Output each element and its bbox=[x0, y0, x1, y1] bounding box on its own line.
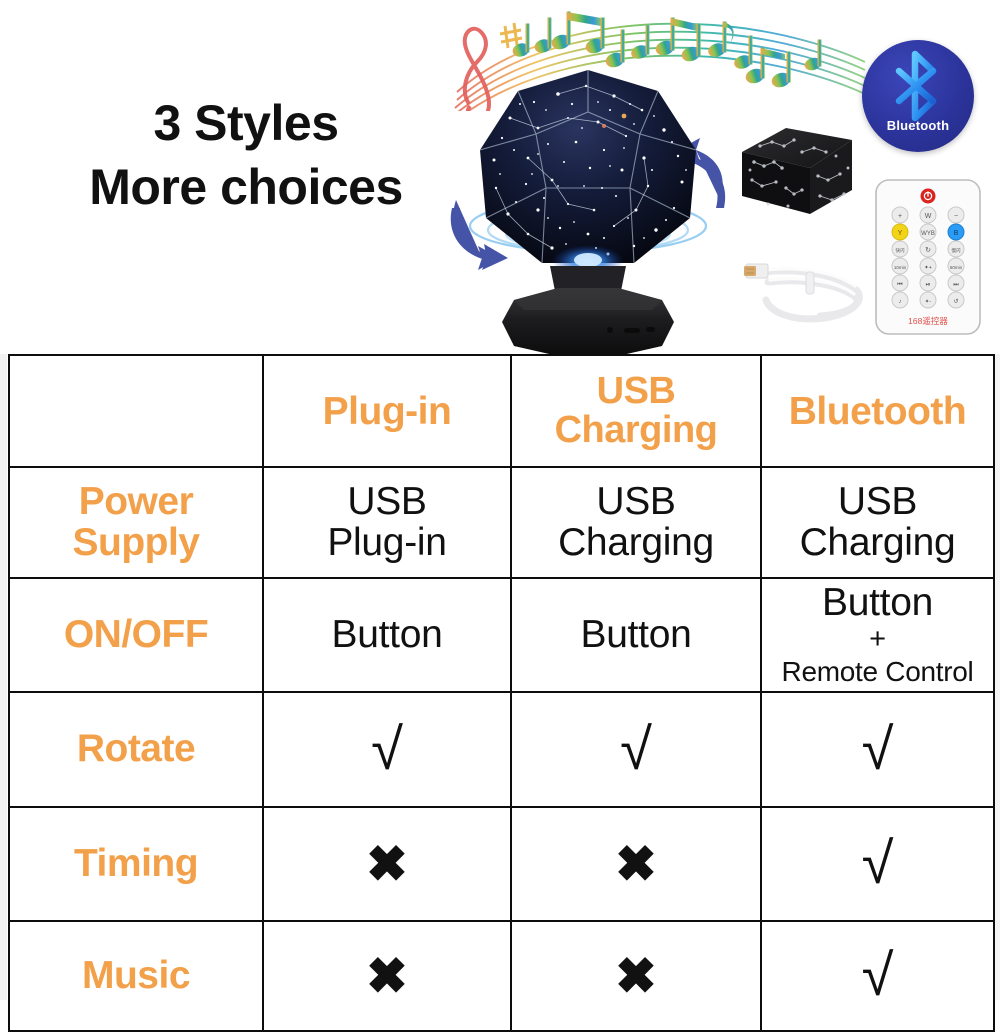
row-label-on-off: ON/OFF bbox=[9, 578, 263, 692]
headline-line-2: More choices bbox=[46, 159, 446, 215]
svg-text:✦-: ✦- bbox=[925, 298, 932, 305]
row-label-power-line1: Power bbox=[14, 482, 258, 523]
hero-section: 3 Styles More choices bbox=[0, 0, 1000, 354]
table-header-row: Plug-in USB Charging Bluetooth bbox=[9, 355, 994, 467]
cell-power-plugin-line2: Plug-in bbox=[268, 523, 506, 564]
header-plugin-label: Plug-in bbox=[268, 392, 506, 431]
table-row-on-off: ON/OFF Button Button Button + Remote Con… bbox=[9, 578, 994, 692]
cell-power-usb-line1: USB bbox=[516, 482, 756, 523]
table-row-rotate: Rotate √ √ √ bbox=[9, 692, 994, 807]
cell-music-plugin: ✖ bbox=[263, 921, 511, 1031]
svg-text:慢闪: 慢闪 bbox=[952, 247, 961, 254]
row-label-timing: Timing bbox=[9, 807, 263, 921]
comparison-table: Plug-in USB Charging Bluetooth Power Sup… bbox=[8, 354, 995, 1032]
usb-cable-image bbox=[742, 248, 882, 333]
cross-icon: ✖ bbox=[516, 951, 756, 1001]
headline-line-1: 3 Styles bbox=[46, 95, 446, 151]
cell-onoff-bluetooth: Button + Remote Control bbox=[761, 578, 994, 692]
svg-text:⏯: ⏯ bbox=[926, 282, 931, 288]
svg-text:−: − bbox=[954, 213, 958, 220]
remote-control-image: +W− YWYBB 快闪↻慢闪 10min✦+60min ⏮⏯⏭ ♪✦-↺ 16… bbox=[872, 178, 984, 336]
header-usb-line1: USB bbox=[516, 372, 756, 411]
cell-rotate-bluetooth: √ bbox=[761, 692, 994, 807]
cell-rotate-usb: √ bbox=[511, 692, 761, 807]
gift-box-image bbox=[730, 118, 860, 228]
cell-power-bluetooth-line2: Charging bbox=[766, 523, 989, 564]
row-label-on-off-text: ON/OFF bbox=[14, 615, 258, 656]
svg-text:♪: ♪ bbox=[899, 299, 902, 305]
header-bluetooth-label: Bluetooth bbox=[766, 392, 989, 431]
infographic-root: 3 Styles More choices bbox=[0, 0, 1000, 1000]
cell-rotate-plugin: √ bbox=[263, 692, 511, 807]
cell-onoff-usb-text: Button bbox=[516, 615, 756, 656]
header-cell-usb-charging: USB Charging bbox=[511, 355, 761, 467]
cell-onoff-plugin: Button bbox=[263, 578, 511, 692]
cell-music-usb: ✖ bbox=[511, 921, 761, 1031]
cell-timing-bluetooth: √ bbox=[761, 807, 994, 921]
remote-model-label: 168遥控器 bbox=[908, 316, 948, 326]
bluetooth-icon bbox=[893, 50, 945, 127]
bluetooth-badge-label: Bluetooth bbox=[862, 118, 974, 133]
cell-timing-plugin: ✖ bbox=[263, 807, 511, 921]
svg-text:60min: 60min bbox=[950, 265, 963, 270]
check-icon: √ bbox=[766, 947, 989, 1005]
check-icon: √ bbox=[766, 721, 989, 779]
svg-text:10min: 10min bbox=[894, 265, 907, 270]
row-label-rotate: Rotate bbox=[9, 692, 263, 807]
row-label-power-line2: Supply bbox=[14, 523, 258, 564]
cell-power-bluetooth: USB Charging bbox=[761, 467, 994, 578]
svg-text:⏭: ⏭ bbox=[953, 282, 959, 288]
row-label-power-supply: Power Supply bbox=[9, 467, 263, 578]
cell-power-plugin-line1: USB bbox=[268, 482, 506, 523]
table-row-music: Music ✖ ✖ √ bbox=[9, 921, 994, 1031]
header-usb-line2: Charging bbox=[516, 411, 756, 450]
svg-text:W: W bbox=[925, 213, 932, 220]
svg-text:快闪: 快闪 bbox=[896, 247, 905, 254]
svg-text:⏮: ⏮ bbox=[897, 282, 903, 288]
table-row-timing: Timing ✖ ✖ √ bbox=[9, 807, 994, 921]
header-cell-blank bbox=[9, 355, 263, 467]
cell-onoff-usb: Button bbox=[511, 578, 761, 692]
cell-onoff-bt-line1: Button bbox=[822, 581, 933, 624]
svg-text:↺: ↺ bbox=[953, 298, 958, 305]
row-label-music-text: Music bbox=[14, 956, 258, 997]
cell-timing-usb: ✖ bbox=[511, 807, 761, 921]
header-cell-bluetooth: Bluetooth bbox=[761, 355, 994, 467]
cell-power-bluetooth-line1: USB bbox=[766, 482, 989, 523]
row-label-music: Music bbox=[9, 921, 263, 1031]
row-label-timing-text: Timing bbox=[14, 844, 258, 885]
check-icon: √ bbox=[268, 721, 506, 779]
cell-onoff-bt-line2: Remote Control bbox=[766, 656, 989, 687]
cell-power-usb: USB Charging bbox=[511, 467, 761, 578]
svg-text:B: B bbox=[954, 230, 959, 237]
cell-music-bluetooth: √ bbox=[761, 921, 994, 1031]
svg-text:+: + bbox=[898, 213, 902, 220]
svg-text:WYB: WYB bbox=[921, 231, 935, 237]
svg-text:Y: Y bbox=[898, 230, 903, 237]
cell-onoff-bt-plus: + bbox=[766, 624, 989, 656]
bluetooth-badge: Bluetooth bbox=[862, 40, 974, 152]
cross-icon: ✖ bbox=[268, 839, 506, 889]
row-label-rotate-text: Rotate bbox=[14, 729, 258, 770]
svg-text:✦+: ✦+ bbox=[924, 264, 932, 271]
check-icon: √ bbox=[516, 721, 756, 779]
page-title: 3 Styles More choices bbox=[46, 95, 446, 215]
cell-power-usb-line2: Charging bbox=[516, 523, 756, 564]
cross-icon: ✖ bbox=[516, 839, 756, 889]
svg-text:↻: ↻ bbox=[925, 247, 931, 254]
cell-power-plugin: USB Plug-in bbox=[263, 467, 511, 578]
cross-icon: ✖ bbox=[268, 951, 506, 1001]
header-cell-plugin: Plug-in bbox=[263, 355, 511, 467]
cell-onoff-plugin-text: Button bbox=[268, 615, 506, 656]
check-icon: √ bbox=[766, 835, 989, 893]
star-projector-lamp-image bbox=[438, 58, 738, 354]
comparison-table-wrapper: Plug-in USB Charging Bluetooth Power Sup… bbox=[8, 354, 993, 994]
table-row-power-supply: Power Supply USB Plug-in USB Charging US… bbox=[9, 467, 994, 578]
